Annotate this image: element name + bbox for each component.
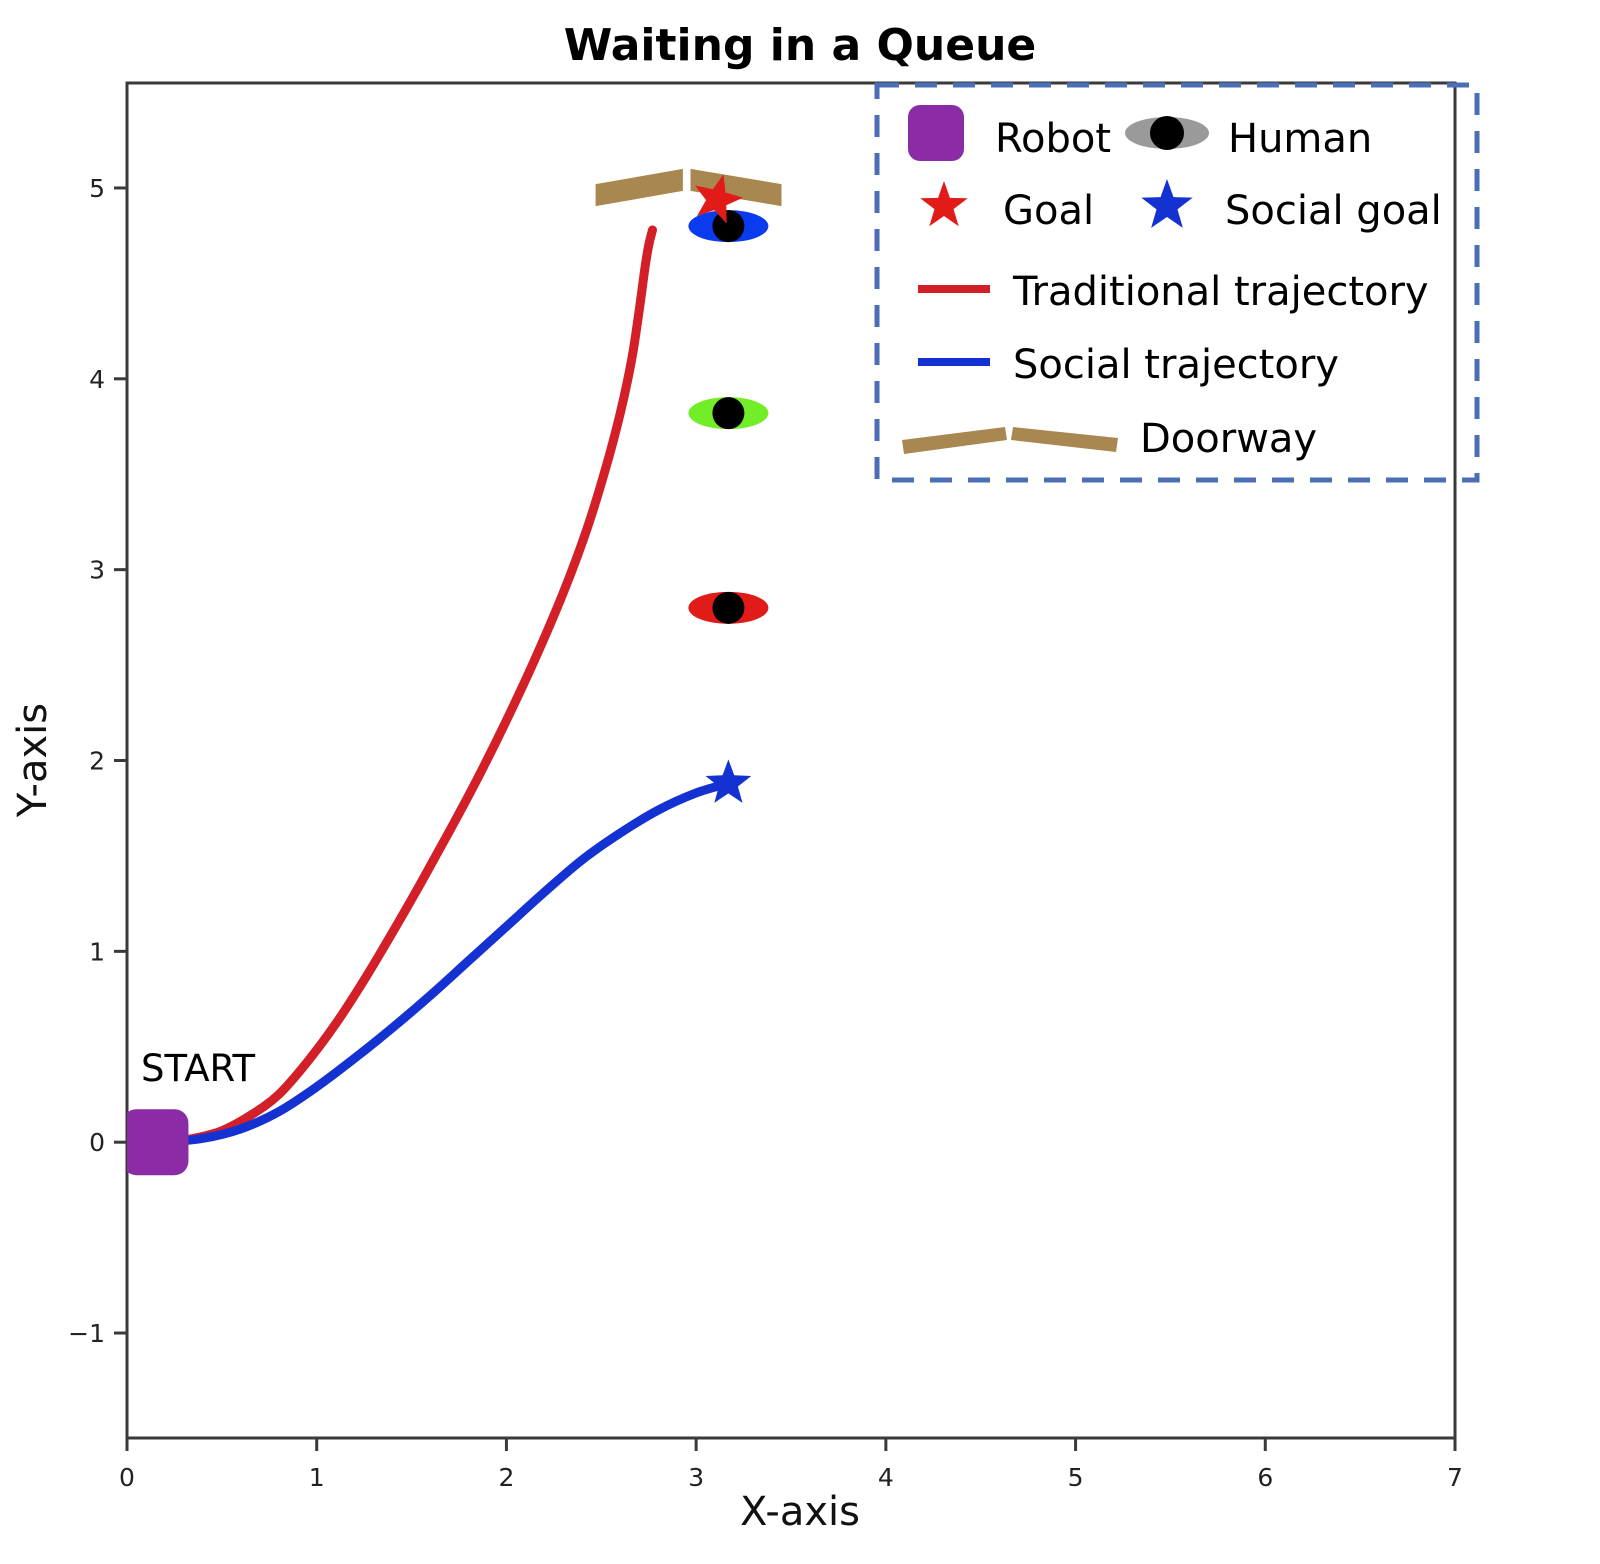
chart-page: Waiting in a Queue 01234567 543210−1 X-a… — [0, 0, 1600, 1564]
y-tick-label: −1 — [68, 1319, 105, 1348]
legend-human-dot — [1150, 116, 1184, 150]
human-dot — [712, 592, 744, 624]
x-tick-label: 7 — [1447, 1463, 1463, 1492]
y-tick-label: 0 — [89, 1128, 105, 1157]
x-tick-label: 3 — [688, 1463, 704, 1492]
legend-label-doorway: Doorway — [1140, 416, 1317, 462]
robot-body — [122, 1109, 188, 1175]
chart-background — [0, 0, 1600, 1564]
legend-label-traditional-trajectory: Traditional trajectory — [1012, 269, 1429, 315]
legend-label-goal: Goal — [1003, 188, 1094, 234]
legend-label-social-goal: Social goal — [1225, 188, 1442, 234]
x-tick-label: 1 — [309, 1463, 325, 1492]
robot-marker — [122, 1109, 188, 1175]
chart-title: Waiting in a Queue — [564, 20, 1036, 71]
y-tick-label: 1 — [89, 937, 105, 966]
legend-label-human: Human — [1228, 116, 1372, 162]
waiting-in-a-queue-chart: Waiting in a Queue 01234567 543210−1 X-a… — [0, 0, 1600, 1564]
x-tick-label: 5 — [1068, 1463, 1084, 1492]
y-tick-label: 2 — [89, 747, 105, 776]
legend-label-social-trajectory: Social trajectory — [1013, 342, 1339, 388]
human-dot — [712, 397, 744, 429]
x-tick-label: 4 — [878, 1463, 894, 1492]
y-tick-label: 5 — [89, 174, 105, 203]
x-tick-label: 2 — [498, 1463, 514, 1492]
x-tick-label: 6 — [1257, 1463, 1273, 1492]
y-tick-label: 4 — [89, 365, 105, 394]
y-tick-label: 3 — [89, 556, 105, 585]
x-tick-label: 0 — [119, 1463, 135, 1492]
legend-label-robot: Robot — [995, 116, 1111, 162]
start-annotation: START — [141, 1047, 256, 1090]
y-axis-label: Y-axis — [10, 703, 56, 818]
legend-robot-swatch — [908, 105, 964, 161]
human-dot — [712, 210, 744, 242]
x-axis-label: X-axis — [740, 1489, 860, 1535]
